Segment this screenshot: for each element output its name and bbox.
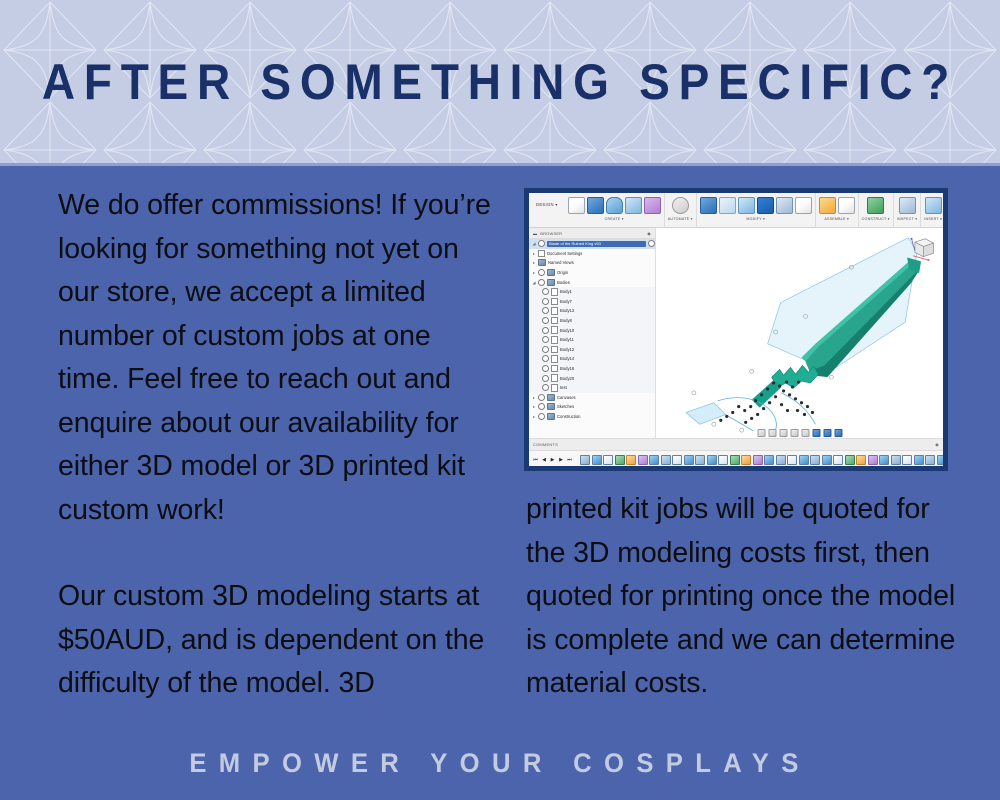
browser-item-canvases[interactable]: ▸ Canvases [529,393,655,403]
browser-item-bodies[interactable]: ◢ Bodies [529,277,655,287]
measure-icon[interactable] [899,197,916,214]
timeline-feature-icon[interactable] [845,455,855,465]
browser-root-item[interactable]: ◢ Blade of the Ruined King v53 [529,239,655,249]
toolbar-group-construct: CONSTRUCT ▾ [859,193,894,229]
timeline-feature-icon[interactable] [718,455,728,465]
footer-tagline: EMPOWER YOUR COSPLAYS [189,748,810,779]
body-icon [551,317,558,325]
fit-icon[interactable] [801,429,809,437]
browser-body-item[interactable]: Body7 [529,297,655,307]
browser-item-label: Canvases [557,395,576,400]
timeline-feature-icon[interactable] [810,455,820,465]
browser-item-label: Origin [557,270,568,275]
move-copy-icon[interactable] [795,197,812,214]
timeline-feature-icon[interactable] [707,455,717,465]
visibility-icon[interactable] [538,394,545,401]
visibility-icon[interactable] [542,336,549,343]
cad-main-area: ▬ BROWSER ◉ ◢ Blade of the Ruined King v… [529,228,943,439]
timeline-feature-icon[interactable] [615,455,625,465]
browser-body-item[interactable]: Body14 [529,354,655,364]
visibility-icon[interactable] [542,327,549,334]
chevron-down-icon[interactable]: ◢ [532,280,536,285]
browser-item-document-settings[interactable]: ▸ Document Settings [529,249,655,259]
play-icon[interactable]: ▶ [549,457,556,463]
body-icon [551,298,558,306]
browser-body-label: Body1 [560,289,572,294]
toolbar-group-modify: MODIFY ▾ [697,193,816,229]
browser-root-label: Blade of the Ruined King v53 [547,241,646,247]
chamfer-icon[interactable] [738,197,755,214]
browser-body-label: Body12 [560,347,574,352]
toolbar-group-modify-label: MODIFY ▾ [746,216,765,222]
timeline-feature-icon[interactable] [741,455,751,465]
browser-body-label: Body10 [560,328,574,333]
cad-footer: COMMENTS ◉ ⏮ ◀ ▶ ▶ ⏭ [529,438,943,466]
step-forward-icon[interactable]: ▶ [558,457,565,463]
visibility-icon[interactable] [542,375,549,382]
browser-body-item[interactable]: Body1 [529,287,655,297]
browser-item-label: Named Views [548,260,574,265]
browser-item-label: Sketches [557,404,574,409]
display-settings-icon[interactable] [812,429,820,437]
viewports-icon[interactable] [834,429,842,437]
sweep-icon[interactable] [625,197,642,214]
automate-icon[interactable] [672,197,689,214]
timeline-feature-icon[interactable] [695,455,705,465]
timeline-feature-icon[interactable] [638,455,648,465]
timeline-feature-icon[interactable] [649,455,659,465]
header-band: AFTER SOMETHING SPECIFIC? [0,0,1000,163]
timeline-feature-icon[interactable] [891,455,901,465]
timeline-feature-icon[interactable] [856,455,866,465]
new-component-icon[interactable] [819,197,836,214]
browser-options-icon[interactable]: ◉ [647,231,651,236]
browser-body-item[interactable]: Body20 [529,373,655,383]
folder-icon [547,394,555,401]
toolbar-group-construct-label: CONSTRUCT ▾ [862,216,890,222]
visibility-icon[interactable] [538,403,545,410]
toolbar-group-inspect: INSPECT ▾ [894,193,922,229]
folder-icon [547,403,555,410]
browser-panel: ▬ BROWSER ◉ ◢ Blade of the Ruined King v… [529,228,656,439]
toolbar-group-create-label: CREATE ▾ [605,216,624,222]
toolbar-group-insert-label: INSERT ▾ [924,216,942,222]
chevron-right-icon[interactable]: ▸ [532,395,536,400]
browser-panel-header: ▬ BROWSER ◉ [529,228,655,239]
revolve-icon[interactable] [606,197,623,214]
left-paragraph-2: Our custom 3D modeling starts at $50AUD,… [58,575,498,706]
zoom-icon[interactable] [790,429,798,437]
timeline-feature-icon[interactable] [580,455,590,465]
browser-collapse-icon[interactable]: ▬ [533,231,537,236]
browser-body-item[interactable]: test [529,383,655,393]
timeline-feature-icon[interactable] [776,455,786,465]
folder-icon [538,259,546,266]
browser-item-named-views[interactable]: ▸ Named Views [529,258,655,268]
timeline-feature-icon[interactable] [937,455,944,465]
timeline-feature-icon[interactable] [684,455,694,465]
body-icon [551,355,558,363]
browser-body-label: Body7 [560,299,572,304]
visibility-icon[interactable] [542,307,549,314]
left-text-column: We do offer commissions! If you’re looki… [58,184,498,706]
settings-icon [538,250,545,258]
left-paragraph-1: We do offer commissions! If you’re looki… [58,184,498,532]
browser-body-label: Body20 [560,376,574,381]
browser-item-label: Document Settings [547,251,582,256]
cad-toolbar: DESIGN ▾ CREATE ▾ AUTOMATE ▾ [529,193,943,228]
browser-body-item[interactable]: Body8 [529,316,655,326]
timeline-feature-icon[interactable] [603,455,613,465]
body-icon [551,365,558,373]
press-pull-icon[interactable] [700,197,717,214]
chevron-down-icon[interactable]: ◢ [532,241,536,246]
timeline-feature-icon[interactable] [799,455,809,465]
viewcube[interactable] [903,232,937,266]
browser-body-item[interactable]: Body13 [529,306,655,316]
browser-item-sketches[interactable]: ▸ Sketches [529,402,655,412]
draft-icon[interactable] [776,197,793,214]
visibility-icon[interactable] [542,355,549,362]
timeline-feature-icon[interactable] [902,455,912,465]
browser-body-label: Body13 [560,308,574,313]
body-icon [551,384,558,392]
body-icon [551,288,558,296]
browser-body-label: Body16 [560,366,574,371]
browser-panel-title: BROWSER [540,231,562,236]
body-icon [551,336,558,344]
timeline-feature-icon[interactable] [822,455,832,465]
look-at-icon[interactable] [768,429,776,437]
visibility-icon[interactable] [542,317,549,324]
step-back-icon[interactable]: ◀ [541,457,548,463]
workspace-switcher[interactable]: DESIGN ▾ [529,193,565,207]
visibility-icon[interactable] [538,240,545,247]
comments-bar[interactable]: COMMENTS ◉ [529,438,943,451]
joint-icon[interactable] [838,197,855,214]
body-icon [551,326,558,334]
toolbar-group-automate-label: AUTOMATE ▾ [668,216,693,222]
browser-item-label: Construction [557,414,581,419]
toolbar-group-assemble-label: ASSEMBLE ▾ [824,216,849,222]
timeline-feature-icon[interactable] [764,455,774,465]
chevron-right-icon[interactable]: ▸ [532,270,536,275]
timeline-feature-icon[interactable] [914,455,924,465]
browser-body-label: Body14 [560,356,574,361]
comments-label: COMMENTS [533,442,558,447]
toolbar-group-insert: INSERT ▾ [921,193,943,229]
browser-item-construction[interactable]: ▸ Construction [529,412,655,422]
browser-body-item[interactable]: Body12 [529,345,655,355]
right-paragraph-1: printed kit jobs will be quoted for the … [526,488,956,706]
toolbar-group-inspect-label: INSPECT ▾ [897,216,918,222]
timeline-feature-icon[interactable] [833,455,843,465]
browser-item-label: Bodies [557,280,570,285]
insert-mcmaster-icon[interactable] [925,197,942,214]
toolbar-group-automate: AUTOMATE ▾ [665,193,697,229]
browser-body-label: test [560,385,567,390]
visibility-icon[interactable] [538,269,545,276]
page-title: AFTER SOMETHING SPECIFIC? [40,0,960,163]
browser-body-label: Body11 [560,337,574,342]
browser-body-item[interactable]: Body16 [529,364,655,374]
visibility-icon[interactable] [542,298,549,305]
visibility-icon[interactable] [538,279,545,286]
browser-bodies-list: Body1Body7Body13Body8Body10Body11Body12B… [529,287,655,393]
timeline-feature-icon[interactable] [661,455,671,465]
timeline-feature-icon[interactable] [787,455,797,465]
skip-end-icon[interactable]: ⏭ [566,457,573,463]
folder-icon [547,413,555,420]
pan-icon[interactable] [779,429,787,437]
cad-model-render [656,228,943,439]
timeline-feature-icon[interactable] [592,455,602,465]
cad-screenshot-frame: DESIGN ▾ CREATE ▾ AUTOMATE ▾ [524,188,948,471]
timeline-feature-icon[interactable] [868,455,878,465]
offset-plane-icon[interactable] [867,197,884,214]
chevron-right-icon[interactable]: ▸ [532,404,536,409]
body-icon [551,374,558,382]
new-sketch-icon[interactable] [568,197,585,214]
timeline-feature-icon[interactable] [730,455,740,465]
shell-icon[interactable] [757,197,774,214]
visibility-icon[interactable] [542,346,549,353]
browser-body-item[interactable]: Body10 [529,325,655,335]
browser-body-label: Body8 [560,318,572,323]
timeline-feature-icon[interactable] [925,455,935,465]
browser-item-origin[interactable]: ▸ Origin [529,268,655,278]
visibility-icon[interactable] [542,365,549,372]
timeline-feature-icon[interactable] [626,455,636,465]
cad-application-window: DESIGN ▾ CREATE ▾ AUTOMATE ▾ [529,193,943,466]
skip-start-icon[interactable]: ⏮ [532,457,539,463]
chevron-right-icon[interactable]: ▸ [532,414,536,419]
visibility-icon[interactable] [538,413,545,420]
body-icon [551,346,558,354]
footer-band: EMPOWER YOUR COSPLAYS [0,726,1000,800]
comments-options-icon[interactable]: ◉ [935,442,939,447]
fillet-icon[interactable] [719,197,736,214]
toolbar-group-assemble: ASSEMBLE ▾ [816,193,859,229]
extrude-icon[interactable] [587,197,604,214]
design-timeline[interactable]: ⏮ ◀ ▶ ▶ ⏭ [529,451,943,466]
right-text-column: printed kit jobs will be quoted for the … [526,488,956,706]
chevron-right-icon[interactable]: ▸ [532,251,536,256]
toolbar-group-create: CREATE ▾ [565,193,665,229]
form-icon[interactable] [644,197,661,214]
visibility-icon[interactable] [542,384,549,391]
browser-body-item[interactable]: Body11 [529,335,655,345]
root-visibility-icon[interactable] [648,240,655,247]
timeline-feature-icon[interactable] [672,455,682,465]
chevron-right-icon[interactable]: ▸ [532,260,536,265]
visibility-icon[interactable] [542,288,549,295]
timeline-feature-icon[interactable] [753,455,763,465]
viewport-display-toolbar[interactable] [757,429,842,437]
folder-icon [547,269,555,276]
poster-canvas: AFTER SOMETHING SPECIFIC? We do offer co… [0,0,1000,800]
timeline-feature-icon[interactable] [879,455,889,465]
grid-snap-icon[interactable] [823,429,831,437]
body-icon [551,307,558,315]
orbit-icon[interactable] [757,429,765,437]
folder-icon [547,279,555,286]
cad-viewport[interactable] [656,228,943,439]
